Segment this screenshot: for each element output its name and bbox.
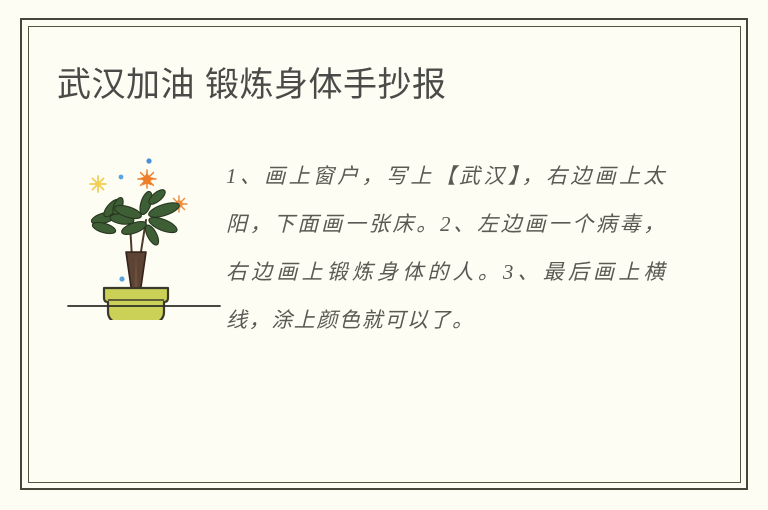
page-title: 武汉加油 锻炼身体手抄报: [57, 64, 446, 107]
instructions-text: 1、画上窗户，写上【武汉】，右边画上太阳，下面画一张床。2、左边画一个病毒，右边…: [226, 152, 666, 344]
potted-plant-illustration: [60, 140, 230, 320]
handbill-card: 武汉加油 锻炼身体手抄报: [0, 0, 768, 510]
content-area: 1、画上窗户，写上【武汉】，右边画上太阳，下面画一张床。2、左边画一个病毒，右边…: [28, 130, 741, 380]
